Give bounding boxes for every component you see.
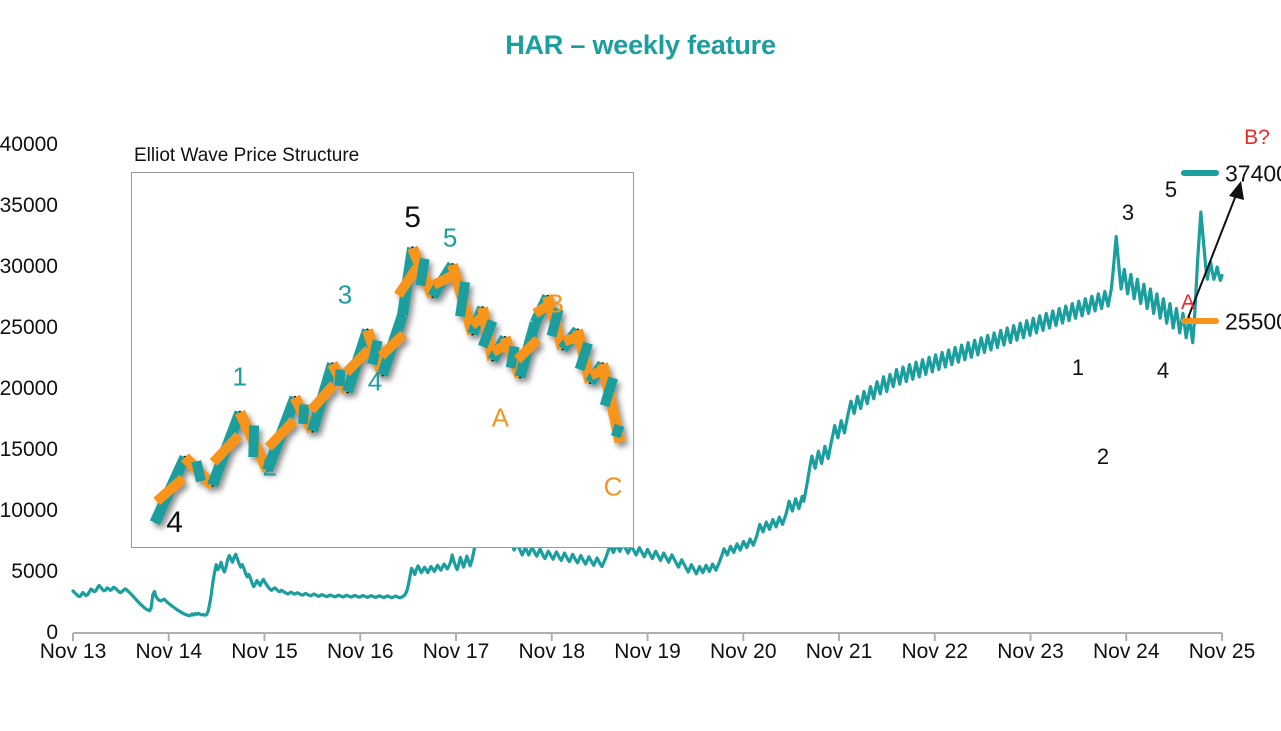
inset-wave-label: A: [492, 402, 509, 433]
inset-panel: 4123455ABC: [131, 172, 634, 548]
b-question-label: B?: [1244, 126, 1270, 150]
x-axis-ticks: [73, 633, 1222, 641]
wave-label: 2: [1097, 444, 1109, 470]
legend-swatch-orange: [1181, 318, 1219, 324]
elliot-wave-diagram: [132, 173, 633, 547]
inset-wave-label: C: [604, 472, 623, 503]
a-label: A: [1181, 291, 1195, 315]
wave-label: 4: [1157, 358, 1169, 384]
inset-wave-label: 4: [166, 506, 183, 540]
top-value-label: 37400: [1225, 161, 1281, 188]
inset-wave-label: B: [547, 288, 564, 319]
inset-wave-label: 2: [263, 451, 277, 482]
inset-wave-label: 3: [338, 279, 352, 310]
forecast-arrow: [1188, 181, 1244, 318]
wave-label: 3: [1122, 200, 1134, 226]
legend-swatch-teal: [1181, 170, 1219, 176]
wave-label: 5: [1165, 177, 1177, 203]
inset-wave-label: 5: [404, 201, 421, 235]
inset-wave-label: 1: [232, 361, 246, 392]
bottom-value-label: 25500: [1225, 309, 1281, 336]
chart-root: HAR – weekly feature 0500010000150002000…: [0, 0, 1281, 731]
inset-title: Elliot Wave Price Structure: [134, 145, 359, 167]
inset-wave-label: 5: [443, 223, 457, 254]
wave-label: 1: [1072, 355, 1084, 381]
inset-wave-label: 4: [368, 367, 382, 398]
